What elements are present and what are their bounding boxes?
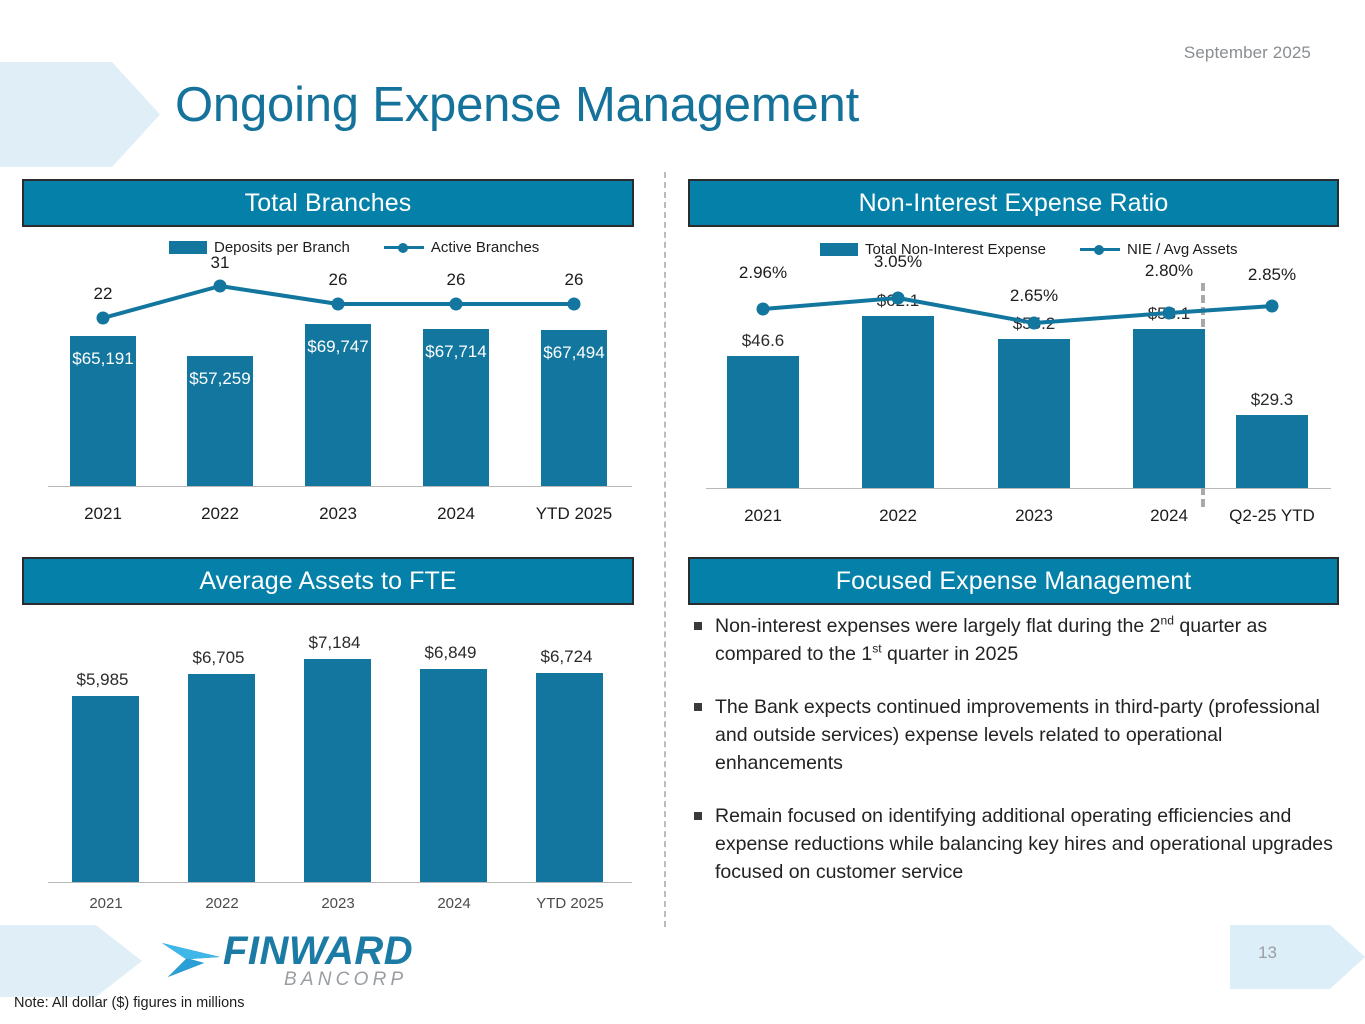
page-chevron-decoration: [1230, 925, 1365, 989]
chart-nie-ratio: $46.6 $62.1 $55.2 $58.1 $29.3 2.96% 3.05…: [706, 269, 1331, 524]
x-axis-category-label: 2021: [56, 895, 156, 912]
x-axis-category-label: 2023: [288, 504, 388, 524]
bullet-text: The Bank expects continued improvements …: [715, 694, 1339, 777]
line-value-label: 26: [298, 270, 378, 290]
bullet-square-icon: [694, 812, 702, 820]
bullet-square-icon: [694, 703, 702, 711]
list-item: The Bank expects continued improvements …: [694, 694, 1339, 777]
legend-label: NIE / Avg Assets: [1127, 241, 1238, 258]
bar: [188, 674, 255, 882]
panel-nie-ratio: Non-Interest Expense Ratio Total Non-Int…: [688, 179, 1339, 227]
bar-value-label: $6,724: [509, 647, 624, 667]
panel-title-focused-expense: Focused Expense Management: [688, 557, 1339, 605]
date-stamp: September 2025: [1184, 43, 1311, 63]
panel-title-avg-assets-fte: Average Assets to FTE: [22, 557, 634, 605]
bar: [420, 669, 487, 882]
legend-item-active-branches: Active Branches: [384, 239, 539, 256]
logo-chevron-decoration: [0, 925, 142, 997]
panel-title-nie-ratio: Non-Interest Expense Ratio: [688, 179, 1339, 227]
x-axis-category-label: Q2-25 YTD: [1211, 506, 1333, 526]
title-chevron-decoration: [0, 62, 160, 167]
x-axis-category-label: 2024: [406, 504, 506, 524]
chart-total-branches: $65,191 $57,259 $69,747 $67,714 $67,494 …: [48, 267, 632, 522]
bar-value-label: $6,705: [161, 648, 276, 668]
x-axis-category-label: 2023: [984, 506, 1084, 526]
line-series-active-branches: [48, 267, 632, 522]
line-value-label: 2.80%: [1119, 261, 1219, 281]
x-axis-category-label: 2021: [713, 506, 813, 526]
logo-wordmark: FINWARD: [223, 929, 413, 974]
panel-total-branches: Total Branches Deposits per Branch Activ…: [22, 179, 634, 227]
x-axis-category-label: 2023: [288, 895, 388, 912]
x-axis-category-label: 2022: [170, 504, 270, 524]
line-value-label: 26: [416, 270, 496, 290]
panel-title-total-branches: Total Branches: [22, 179, 634, 227]
focused-expense-bullet-list: Non-interest expenses were largely flat …: [694, 613, 1339, 913]
list-item: Remain focused on identifying additional…: [694, 803, 1339, 886]
bullet-text: Remain focused on identifying additional…: [715, 803, 1339, 886]
bullet-text: Non-interest expenses were largely flat …: [715, 613, 1339, 668]
bar: [72, 696, 139, 882]
line-value-label: 2.96%: [713, 263, 813, 283]
slide-root: September 2025 Ongoing Expense Managemen…: [0, 0, 1365, 1024]
bullet-square-icon: [694, 622, 702, 630]
page-number: 13: [1258, 943, 1277, 963]
x-axis-category-label: 2024: [404, 895, 504, 912]
footnote: Note: All dollar ($) figures in millions: [14, 995, 244, 1011]
list-item: Non-interest expenses were largely flat …: [694, 613, 1339, 668]
line-series-nie-avg-assets: [706, 269, 1331, 524]
line-value-label: 2.85%: [1222, 265, 1322, 285]
company-logo: FINWARD BANCORP: [160, 925, 390, 995]
line-marker-swatch-icon: [384, 241, 424, 254]
line-value-label: 22: [63, 284, 143, 304]
line-value-label: 26: [534, 270, 614, 290]
bar-value-label: $6,849: [393, 643, 508, 663]
line-value-label: 2.65%: [984, 286, 1084, 306]
page-title: Ongoing Expense Management: [175, 79, 859, 133]
vertical-divider: [664, 172, 666, 927]
line-marker-swatch-icon: [1080, 243, 1120, 256]
panel-focused-expense: Focused Expense Management: [688, 557, 1339, 605]
panel-avg-assets-fte: Average Assets to FTE $5,985 $6,705 $7,1…: [22, 557, 634, 605]
x-axis-category-label: 2022: [848, 506, 948, 526]
line-value-label: 3.05%: [848, 252, 948, 272]
legend-label: Active Branches: [431, 239, 539, 256]
bar: [536, 673, 603, 882]
x-axis-category-label: 2021: [53, 504, 153, 524]
bar-value-label: $7,184: [277, 633, 392, 653]
x-axis-category-label: 2024: [1119, 506, 1219, 526]
bar: [304, 659, 371, 882]
x-axis-line: [48, 882, 632, 883]
chart-avg-assets-fte: $5,985 $6,705 $7,184 $6,849 $6,724 2021 …: [48, 615, 632, 915]
logo-subtitle: BANCORP: [284, 969, 407, 991]
bar-value-label: $5,985: [45, 670, 160, 690]
x-axis-category-label: YTD 2025: [520, 895, 620, 912]
arrow-logo-icon: [160, 937, 222, 981]
line-value-label: 31: [180, 253, 260, 273]
legend-item-nie-avg-assets: NIE / Avg Assets: [1080, 241, 1238, 258]
x-axis-category-label: YTD 2025: [524, 504, 624, 524]
x-axis-category-label: 2022: [172, 895, 272, 912]
